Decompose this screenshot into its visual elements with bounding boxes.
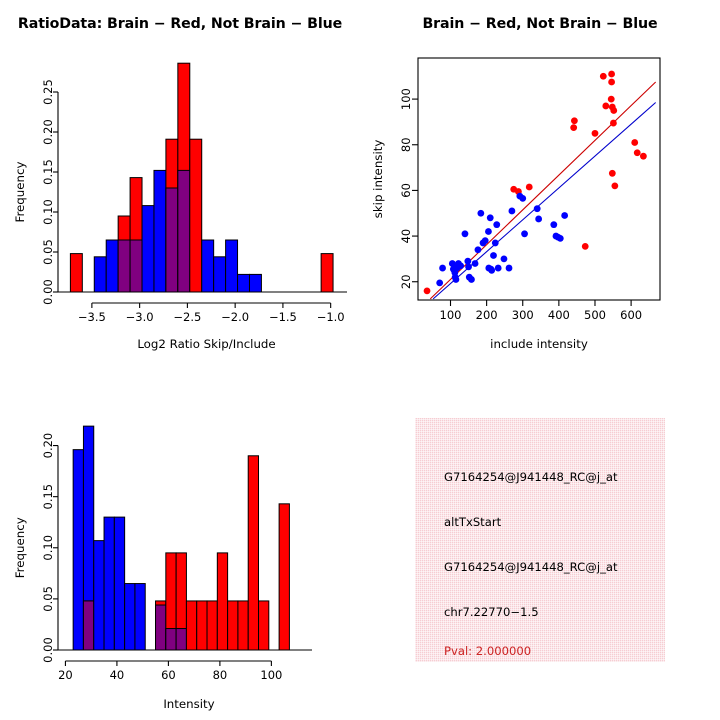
scatter-point: [501, 256, 508, 263]
x-axis-tick-label: 80: [213, 668, 228, 682]
histogram-bar-red: [248, 456, 258, 650]
scatter-point: [465, 263, 472, 270]
plot-page: RatioData: Brain − Red, Not Brain − Blue…: [0, 0, 720, 720]
histogram-bar-blue: [106, 240, 118, 292]
histogram-bar-red: [190, 139, 202, 292]
x-axis-tick-label: −1.5: [269, 310, 297, 324]
panel-gene-intensity-histogram: Gene Itensity: Brain − Red, Not Brain − …: [0, 360, 360, 720]
y-axis-tick-label: 0.25: [41, 79, 55, 105]
histogram-bar-blue: [214, 257, 226, 292]
x-axis-title: include intensity: [490, 337, 588, 351]
scatter-point: [610, 120, 617, 127]
histogram-bar-blue: [238, 274, 250, 292]
histogram-bar-blue: [73, 450, 83, 650]
scatter-point: [561, 212, 568, 219]
histogram-bar-blue: [202, 240, 214, 292]
histogram-bar-blue: [142, 206, 154, 292]
panel-intensity-scatter: Brain − Red, Not Brain − Blue 2040608010…: [360, 0, 720, 360]
scatter-point: [468, 276, 475, 283]
scatter-point: [640, 153, 647, 160]
scatter-point: [634, 149, 641, 156]
ratio-histogram-plot: 0.000.050.100.150.200.25Frequency−3.5−3.…: [0, 0, 360, 360]
scatter-content: [424, 71, 656, 299]
x-axis-title: Log2 Ratio Skip/Include: [137, 337, 275, 351]
x-axis-tick-label: −3.5: [78, 310, 106, 324]
scatter-point: [492, 240, 499, 247]
histogram-bar-red: [321, 254, 333, 292]
scatter-point: [608, 96, 615, 103]
scatter-point: [472, 260, 479, 267]
histogram-bar-blue: [114, 517, 124, 650]
scatter-point: [495, 265, 502, 272]
histogram-bar-blue: [226, 240, 238, 292]
y-axis-tick-label: 0.20: [41, 119, 55, 145]
scatter-point: [509, 208, 516, 215]
regression-line-brain-fit: [430, 82, 655, 299]
scatter-point: [571, 117, 578, 124]
scatter-point: [485, 228, 492, 235]
scatter-point: [535, 216, 542, 223]
y-axis-tick-label: 80: [399, 137, 413, 152]
scatter-point: [611, 182, 618, 189]
y-axis-tick-label: 0.00: [41, 279, 55, 305]
y-axis-tick-label: 0.00: [41, 637, 55, 663]
scatter-point: [592, 130, 599, 137]
histogram-bar-blue: [135, 584, 145, 650]
scatter-point: [519, 195, 526, 202]
y-axis-tick-label: 60: [399, 183, 413, 198]
scatter-point: [462, 230, 469, 237]
scatter-point: [521, 230, 528, 237]
scatter-point: [490, 252, 497, 259]
y-axis-title: Frequency: [13, 517, 27, 578]
x-axis-tick-label: −2.5: [173, 310, 201, 324]
y-axis-tick-label: 0.05: [41, 239, 55, 265]
scatter-point: [600, 73, 607, 80]
scatter-point: [610, 107, 617, 114]
probeset-id-2-label: G7164254@J941448_RC@j_at: [444, 560, 618, 574]
y-axis-title: skip intensity: [371, 140, 385, 219]
x-axis-tick-label: −3.0: [126, 310, 154, 324]
locus-label: chr7.22770−1.5: [444, 605, 539, 619]
scatter-point: [608, 79, 615, 86]
scatter-point: [477, 210, 484, 217]
histogram-bar-red: [70, 254, 82, 292]
x-axis-tick-label: 300: [512, 308, 534, 322]
histogram-bar-red: [238, 601, 248, 650]
scatter-point: [457, 262, 464, 269]
histogram-bar-blue: [125, 584, 135, 650]
histogram-bar-red: [228, 601, 238, 650]
event-type-label: altTxStart: [444, 515, 501, 529]
histogram-bar-overlap: [166, 188, 178, 292]
scatter-point: [582, 243, 589, 250]
panel-ratio-histogram: RatioData: Brain − Red, Not Brain − Blue…: [0, 0, 360, 360]
y-axis-tick-label: 0.05: [41, 586, 55, 612]
x-axis-tick-label: 500: [584, 308, 606, 322]
scatter-point: [424, 287, 431, 294]
panel-gene-info: G7164254@J941448_RC@j_at altTxStart G716…: [360, 360, 720, 720]
x-axis-title: Intensity: [163, 697, 214, 711]
histogram-bar-blue: [94, 541, 104, 650]
y-axis-tick-label: 40: [399, 229, 413, 244]
histogram-bar-red: [259, 601, 269, 650]
x-axis-tick-label: 100: [440, 308, 462, 322]
scatter-point: [602, 103, 609, 110]
scatter-point: [488, 267, 495, 274]
x-axis-tick-label: 400: [548, 308, 570, 322]
y-axis-tick-label: 20: [399, 274, 413, 289]
x-axis-tick-label: 20: [58, 668, 73, 682]
histogram-bar-blue: [154, 170, 166, 292]
histogram-bar-overlap: [178, 170, 190, 292]
scatter-point: [475, 246, 482, 253]
histogram-bar-overlap: [176, 629, 186, 650]
histogram-bar-red: [207, 601, 217, 650]
scatter-point: [506, 265, 513, 272]
y-axis-tick-label: 100: [399, 88, 413, 110]
histogram-bar-blue: [94, 257, 106, 292]
scatter-point: [631, 139, 638, 146]
y-axis-tick-label: 0.10: [41, 199, 55, 225]
histogram-bar-blue: [104, 517, 114, 650]
scatter-point: [557, 235, 564, 242]
y-axis-title: Frequency: [13, 162, 27, 223]
x-axis-tick-label: −1.0: [317, 310, 345, 324]
histogram-bar-red: [197, 601, 207, 650]
intensity-scatter-plot: 20406080100skip intensity100200300400500…: [360, 0, 720, 360]
x-axis-tick-label: 600: [620, 308, 642, 322]
y-axis-tick-label: 0.15: [41, 484, 55, 510]
probeset-id-label: G7164254@J941448_RC@j_at: [444, 470, 618, 484]
scatter-point: [464, 258, 471, 265]
x-axis-tick-label: 100: [260, 668, 282, 682]
scatter-point: [482, 237, 489, 244]
gene-info-box: G7164254@J941448_RC@j_at altTxStart G716…: [415, 418, 665, 662]
scatter-point: [608, 71, 615, 78]
scatter-point: [534, 205, 541, 212]
scatter-point: [570, 124, 577, 131]
y-axis-tick-label: 0.10: [41, 535, 55, 561]
scatter-point: [436, 279, 443, 286]
histogram-bar-red: [279, 504, 289, 650]
scatter-point: [550, 221, 557, 228]
scatter-point: [526, 184, 533, 191]
x-axis-tick-label: 60: [161, 668, 176, 682]
scatter-point: [439, 265, 446, 272]
histogram-bar-blue: [249, 274, 261, 292]
histogram-bar-overlap: [130, 240, 142, 292]
x-axis-tick-label: −2.0: [221, 310, 249, 324]
x-axis-tick-label: 40: [110, 668, 125, 682]
gene-intensity-histogram-plot: 0.000.050.100.150.20Frequency20406080100…: [0, 360, 360, 720]
y-axis-tick-label: 0.15: [41, 159, 55, 185]
scatter-point: [609, 170, 616, 177]
histogram-bar-overlap: [156, 605, 166, 650]
histogram-bar-overlap: [166, 629, 176, 650]
pval-label: Pval: 2.000000: [444, 644, 531, 658]
scatter-point: [493, 221, 500, 228]
histogram-bar-overlap: [83, 601, 93, 650]
x-axis-tick-label: 200: [476, 308, 498, 322]
y-axis-tick-label: 0.20: [41, 433, 55, 459]
scatter-point: [487, 214, 494, 221]
histogram-bar-overlap: [118, 240, 130, 292]
scatter-point: [453, 276, 460, 283]
histogram-bar-red: [186, 601, 196, 650]
histogram-bar-red: [217, 553, 227, 650]
